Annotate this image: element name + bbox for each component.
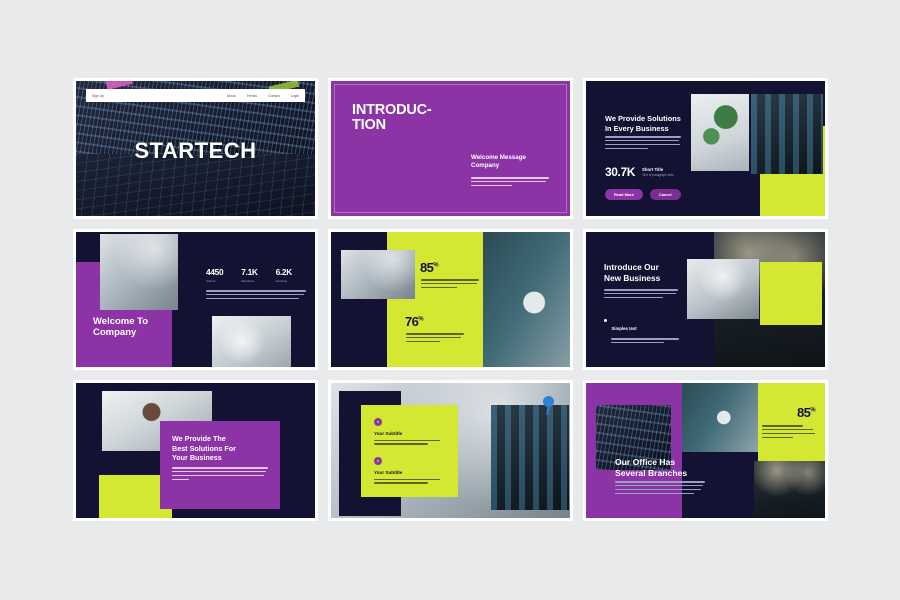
slide-8-item-1: ● Your Subtitle xyxy=(374,418,440,447)
navbar-links[interactable]: About Trends Contact Login xyxy=(227,94,299,98)
slide-3-stat-number: 30.7K xyxy=(605,165,635,179)
lime-stat-panel xyxy=(758,383,825,461)
badge-icon: ● xyxy=(374,457,382,465)
slide-9-title: Our Office Has Several Branches xyxy=(615,457,687,479)
slide-7-card: We Provide The Best Solutions For Your B… xyxy=(160,421,280,509)
slide-3-title-line1: We Provide Solutions xyxy=(605,114,681,124)
slide-4-stat-2-value: 7.1K xyxy=(241,267,257,277)
slide-4-canvas: 4450 Clients 7.1K Members 6.2K Growing W… xyxy=(76,232,315,367)
slide-3-canvas: We Provide Solutions In Every Business 3… xyxy=(586,81,825,216)
slide-8-item-2-body xyxy=(374,479,440,484)
slide-5-body-b xyxy=(406,333,464,345)
slide-4-stat-2: 7.1K Members xyxy=(241,267,257,283)
office-plant-photo xyxy=(691,94,749,171)
slide-3-title: We Provide Solutions In Every Business xyxy=(605,114,681,133)
slide-7-canvas: We Provide The Best Solutions For Your B… xyxy=(76,383,315,518)
slide-9-body-text xyxy=(615,481,705,497)
slide-2-title-line2: TION xyxy=(352,118,432,133)
slide-4-stats: 4450 Clients 7.1K Members 6.2K Growing xyxy=(206,267,292,283)
slide-3-buttons: Read More Cancel xyxy=(605,189,681,200)
slide-8-item-2-subtitle: Your Subtitle xyxy=(374,470,440,475)
slide-3-title-line2: In Every Business xyxy=(605,124,681,134)
slide-4-stat-1-label: Clients xyxy=(206,279,223,283)
slide-6-bullet-label: Simples text xyxy=(611,326,636,331)
slide-2-subtitle-line2: Company xyxy=(471,162,526,170)
slide-4-title-line2: Company xyxy=(93,327,148,339)
nav-link-login[interactable]: Login xyxy=(291,94,299,98)
mobile-app-photo xyxy=(483,232,570,367)
map-pin-icon xyxy=(543,396,554,407)
slide-thumbnail-6[interactable]: Introduce Our New Business Simples text xyxy=(583,229,828,370)
slide-5-canvas: 85% 76% xyxy=(331,232,570,367)
slide-8-card: ● Your Subtitle ● Your Subtitle xyxy=(361,405,458,497)
read-more-button[interactable]: Read More xyxy=(605,189,643,200)
slide-5-body-a xyxy=(421,279,479,291)
slide-6-title-line1: Introduce Our xyxy=(604,262,660,273)
slide-6-bullet-body xyxy=(611,338,679,343)
nav-link-trends[interactable]: Trends xyxy=(247,94,257,98)
control-room-photo xyxy=(754,461,825,518)
slide-4-title-line1: Welcome To xyxy=(93,316,148,328)
slide-7-body-text xyxy=(172,467,268,483)
slide-2-canvas: INTRODUC- TION Welcome Message Company xyxy=(331,81,570,216)
slide-9-canvas: 85% Our Office Has Several Branches xyxy=(586,383,825,518)
slide-2-subtitle-line1: Welcome Message xyxy=(471,154,526,162)
slide-4-stat-3: 6.2K Growing xyxy=(276,267,292,283)
slide-5-stat-b-value: 76 xyxy=(405,314,418,329)
slide-2-title-line1: INTRODUC- xyxy=(352,103,432,118)
slide-3-stat: 30.7K Short Title Text of paragraph sets xyxy=(605,165,674,179)
slide-4-body-text xyxy=(206,290,306,302)
site-navbar[interactable]: Sign Up About Trends Contact Login xyxy=(86,89,305,102)
slide-2-title: INTRODUC- TION xyxy=(352,103,432,133)
slide-9-stat-body xyxy=(762,425,815,441)
slide-8-item-1-subtitle: Your Subtitle xyxy=(374,431,440,436)
slide-4-stat-3-value: 6.2K xyxy=(276,267,292,277)
slide-thumbnail-7[interactable]: We Provide The Best Solutions For Your B… xyxy=(73,380,318,521)
handshake-office-photo xyxy=(100,234,178,310)
badge-icon: ● xyxy=(374,418,382,426)
slide-6-title-line2: New Business xyxy=(604,273,660,284)
slide-7-title-line1: We Provide The xyxy=(172,434,236,444)
phone-in-hand-photo xyxy=(682,383,758,452)
slide-8-canvas: ● Your Subtitle ● Your Subtitle xyxy=(331,383,570,518)
slide-2-subtitle: Welcome Message Company xyxy=(471,154,526,171)
slide-9-stat: 85% xyxy=(797,405,815,420)
slide-3-stat-labels: Short Title Text of paragraph sets xyxy=(642,167,674,177)
slide-9-title-line1: Our Office Has xyxy=(615,457,687,468)
slide-thumbnail-grid: Sign Up About Trends Contact Login START… xyxy=(73,78,828,521)
vr-users-photo xyxy=(212,316,291,367)
slide-1-canvas: Sign Up About Trends Contact Login START… xyxy=(76,81,315,216)
slide-thumbnail-3[interactable]: We Provide Solutions In Every Business 3… xyxy=(583,78,828,219)
developer-at-desk-photo xyxy=(751,94,823,174)
nav-link-contact[interactable]: Contact xyxy=(268,94,280,98)
slide-7-title-line2: Best Solutions For xyxy=(172,444,236,454)
signup-label[interactable]: Sign Up xyxy=(92,94,221,98)
slide-9-stat-unit: % xyxy=(810,408,815,414)
slide-5-stat-b: 76% xyxy=(405,314,423,329)
slide-6-canvas: Introduce Our New Business Simples text xyxy=(586,232,825,367)
slide-6-bullet: Simples text xyxy=(604,317,679,346)
slide-9-title-line2: Several Branches xyxy=(615,468,687,479)
slide-thumbnail-8[interactable]: ● Your Subtitle ● Your Subtitle xyxy=(328,380,573,521)
slide-7-title: We Provide The Best Solutions For Your B… xyxy=(172,434,236,463)
nav-link-about[interactable]: About xyxy=(227,94,236,98)
slide-7-title-line3: Your Business xyxy=(172,453,236,463)
slide-3-stat-label: Short Title xyxy=(642,167,674,172)
slide-5-stat-b-unit: % xyxy=(418,317,423,323)
lime-square-decoration xyxy=(760,262,822,325)
dual-monitor-photo xyxy=(491,405,569,510)
slide-thumbnail-5[interactable]: 85% 76% xyxy=(328,229,573,370)
slide-4-stat-1: 4450 Clients xyxy=(206,267,223,283)
slide-9-stat-value: 85 xyxy=(797,405,810,420)
slide-3-stat-sublabel: Text of paragraph sets xyxy=(642,173,674,177)
slide-8-item-1-body xyxy=(374,440,440,445)
slide-5-stat-a: 85% xyxy=(420,260,438,275)
slide-1-title: STARTECH xyxy=(134,138,256,164)
slide-4-stat-3-label: Growing xyxy=(276,279,292,283)
slide-5-stat-a-unit: % xyxy=(433,263,438,269)
slide-thumbnail-9[interactable]: 85% Our Office Has Several Branches xyxy=(583,380,828,521)
slide-5-stat-a-value: 85 xyxy=(420,260,433,275)
slide-6-title: Introduce Our New Business xyxy=(604,262,660,283)
slide-thumbnail-1[interactable]: Sign Up About Trends Contact Login START… xyxy=(73,78,318,219)
team-meeting-photo xyxy=(341,250,415,299)
cancel-button[interactable]: Cancel xyxy=(650,189,681,200)
slide-2-body-text xyxy=(471,177,549,189)
touchscreen-kiosk-photo xyxy=(687,259,759,319)
bullet-dot-icon xyxy=(604,319,607,322)
slide-4-title: Welcome To Company xyxy=(93,316,148,339)
slide-4-stat-2-label: Members xyxy=(241,279,257,283)
slide-8-item-2: ● Your Subtitle xyxy=(374,457,440,486)
slide-thumbnail-2[interactable]: INTRODUC- TION Welcome Message Company xyxy=(328,78,573,219)
slide-6-body-text xyxy=(604,289,678,301)
slide-3-body-text xyxy=(605,136,681,152)
slide-thumbnail-4[interactable]: 4450 Clients 7.1K Members 6.2K Growing W… xyxy=(73,229,318,370)
slide-4-stat-1-value: 4450 xyxy=(206,267,223,277)
